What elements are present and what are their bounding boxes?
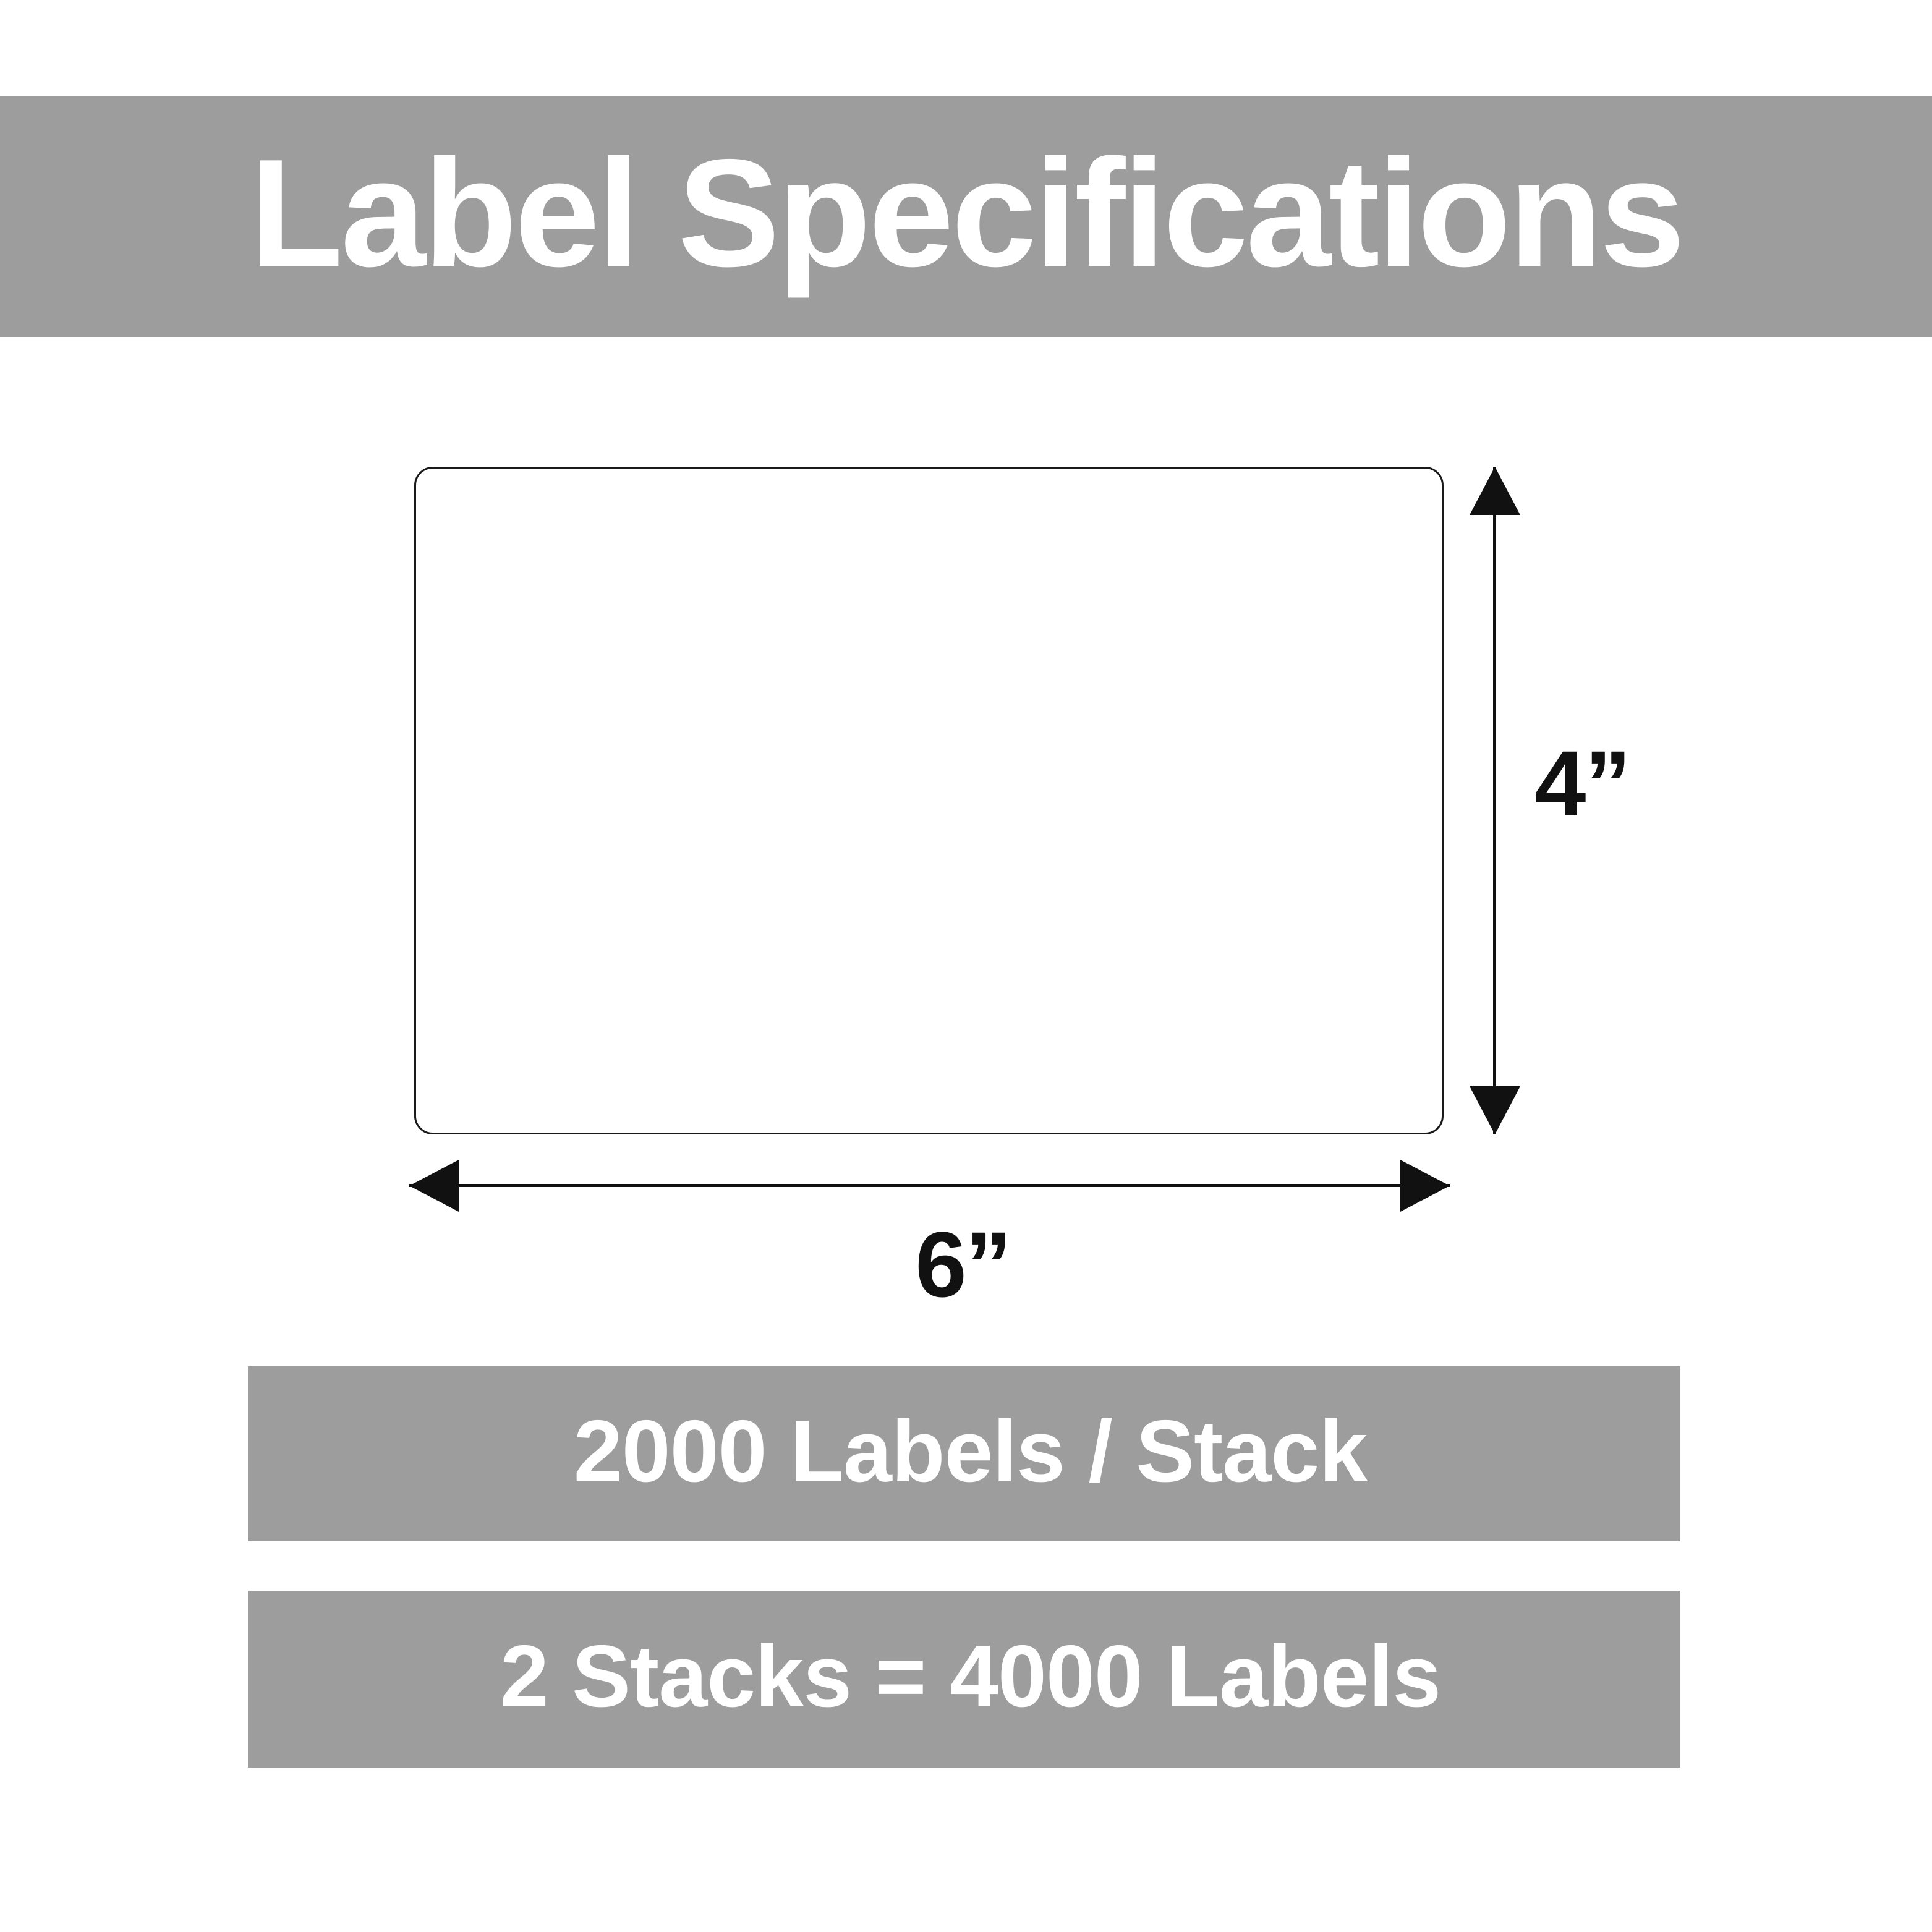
width-arrow-shaft (409, 1184, 1450, 1187)
width-dimension-arrow (409, 1160, 1450, 1212)
spec-bar-total-labels: 2 Stacks = 4000 Labels (248, 1591, 1680, 1768)
page-title: Label Specifications (249, 136, 1682, 289)
height-dimension-arrow (1470, 467, 1520, 1134)
label-outline-shape (414, 467, 1444, 1134)
spec-bar-labels-per-stack: 2000 Labels / Stack (248, 1366, 1680, 1541)
arrow-right-icon (1400, 1160, 1450, 1212)
arrow-left-icon (409, 1160, 459, 1212)
height-arrow-shaft (1493, 467, 1496, 1134)
arrow-up-icon (1470, 467, 1520, 515)
header-band: Label Specifications (0, 96, 1932, 337)
width-dimension-label: 6” (0, 1218, 1929, 1311)
spec-bar-text: 2 Stacks = 4000 Labels (500, 1633, 1440, 1721)
arrow-down-icon (1470, 1086, 1520, 1134)
spec-bar-text: 2000 Labels / Stack (574, 1408, 1367, 1496)
height-dimension-label: 4” (1534, 737, 1630, 830)
